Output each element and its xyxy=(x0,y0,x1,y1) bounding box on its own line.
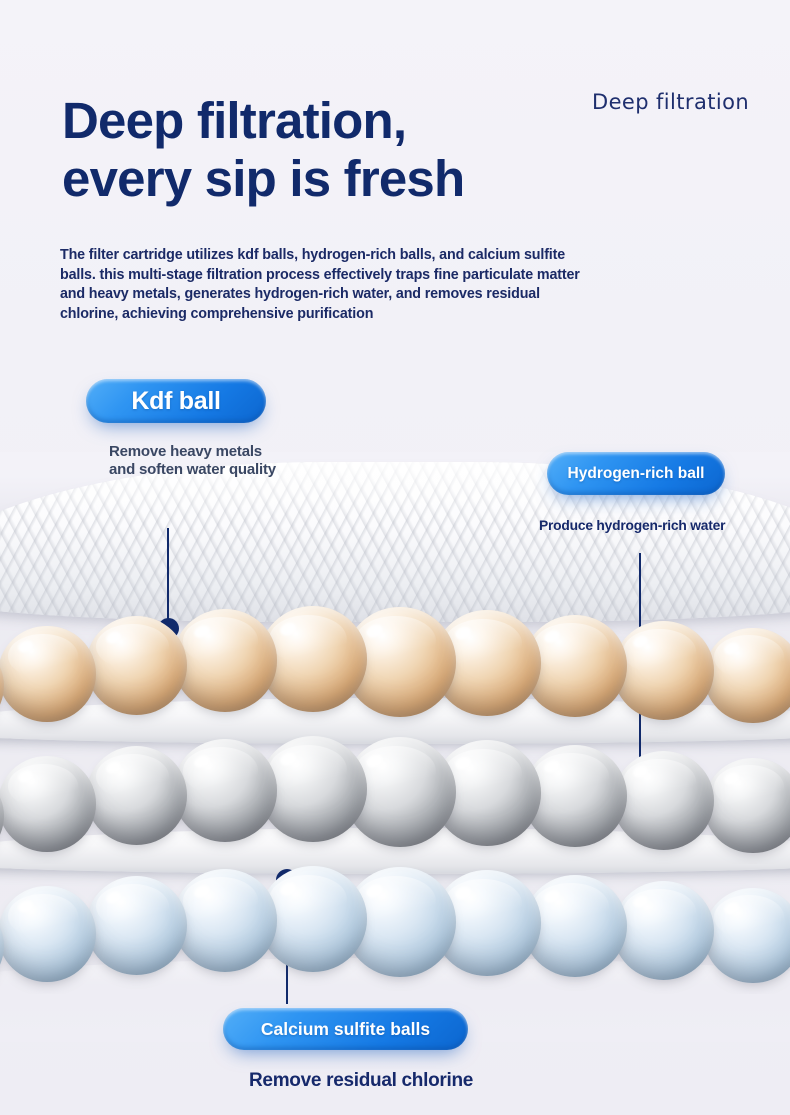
caption-calcium: Remove residual chlorine xyxy=(249,1070,473,1092)
bead-sheen xyxy=(714,635,784,679)
kdf-leader-line xyxy=(167,528,169,627)
header-section: Deep filtration Deep filtration, every s… xyxy=(0,0,790,345)
bead-blue xyxy=(173,869,278,972)
bead-sheen xyxy=(8,764,78,808)
bead-gray xyxy=(613,751,714,850)
description-paragraph: The filter cartridge utilizes kdf balls,… xyxy=(60,246,732,324)
bead-sheen xyxy=(183,617,258,664)
bead-sheen xyxy=(96,884,169,930)
page-background: Deep filtration Deep filtration, every s… xyxy=(0,0,790,1115)
paragraph-line-4: chlorine, achieving comprehensive purifi… xyxy=(60,305,732,325)
bead-sheen xyxy=(623,629,696,675)
bead-sheen xyxy=(8,894,78,938)
bead-tan xyxy=(173,609,278,712)
bead-sheen xyxy=(183,877,258,924)
bead-blue xyxy=(0,886,96,982)
bead-tan xyxy=(0,626,96,722)
bead-sheen xyxy=(269,875,347,924)
headline-line-1: Deep filtration, xyxy=(62,96,682,146)
bead-gray xyxy=(0,756,96,852)
bead-gray xyxy=(173,739,278,842)
bead-sheen xyxy=(96,624,169,670)
bead-sheen xyxy=(8,634,78,678)
hydrogen-bead-layer xyxy=(0,714,790,864)
bead-sheen xyxy=(355,746,436,796)
bead-sheen xyxy=(183,747,258,794)
bead-sheen xyxy=(714,895,784,939)
bead-blue xyxy=(86,876,187,975)
badge-kdf-ball[interactable]: Kdf ball xyxy=(86,379,266,423)
bead-blue xyxy=(613,881,714,980)
paragraph-line-1: The filter cartridge utilizes kdf balls,… xyxy=(60,246,732,266)
badge-calcium-sulfite-balls[interactable]: Calcium sulfite balls xyxy=(223,1008,468,1050)
badge-hydrogen-rich-ball[interactable]: Hydrogen-rich ball xyxy=(547,452,725,495)
bead-sheen xyxy=(269,615,347,664)
caption-hydrogen: Produce hydrogen-rich water xyxy=(539,518,725,533)
caption-kdf: Remove heavy metals and soften water qua… xyxy=(109,443,279,478)
kdf-bead-layer xyxy=(0,584,790,734)
bead-sheen xyxy=(714,765,784,809)
paragraph-line-3: and heavy metals, generates hydrogen-ric… xyxy=(60,285,732,305)
bead-sheen xyxy=(533,753,608,800)
paragraph-line-2: balls. this multi-stage filtration proce… xyxy=(60,266,732,286)
bead-sheen xyxy=(533,883,608,930)
calcium-bead-layer xyxy=(0,844,790,994)
headline-line-2: every sip is fresh xyxy=(62,154,682,204)
bead-sheen xyxy=(355,616,436,666)
bead-sheen xyxy=(623,889,696,935)
bead-gray xyxy=(86,746,187,845)
filter-cartridge-illustration xyxy=(0,452,790,1042)
bead-sheen xyxy=(533,623,608,670)
bead-tan xyxy=(613,621,714,720)
bead-sheen xyxy=(96,754,169,800)
page-title: Deep filtration, every sip is fresh xyxy=(62,96,682,204)
bead-sheen xyxy=(269,745,347,794)
bead-sheen xyxy=(355,876,436,926)
bead-sheen xyxy=(623,759,696,805)
bead-tan xyxy=(86,616,187,715)
